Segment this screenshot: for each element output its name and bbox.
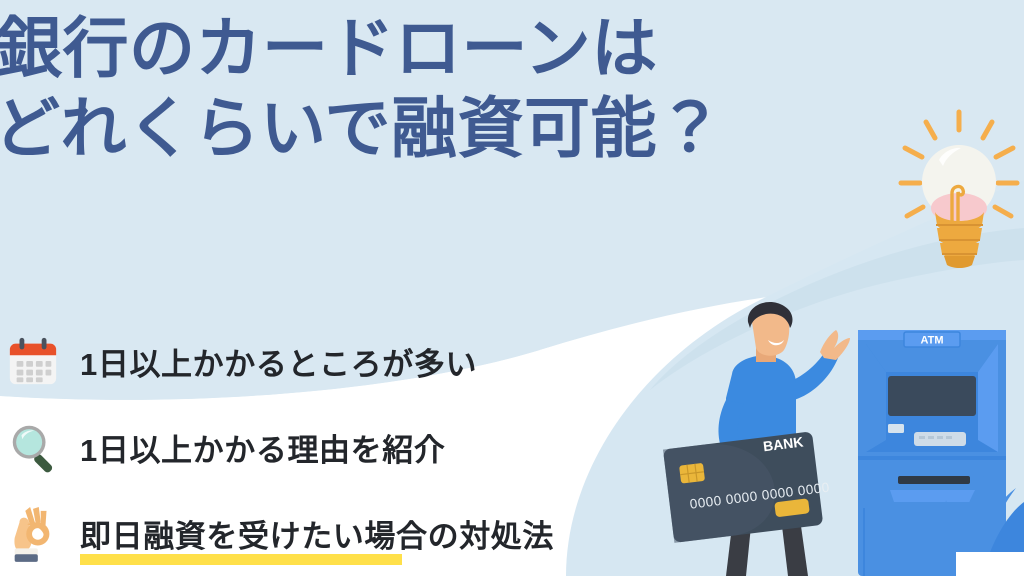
list-item-label: 1日以上かかるところが多い xyxy=(66,339,477,384)
list-item[interactable]: 即日融資を受けたい場合の対処法 xyxy=(0,496,640,570)
list-item-label: 1日以上かかる理由を紹介 xyxy=(66,425,445,470)
page-title-line-2: どれくらいで融資可能？ xyxy=(0,94,900,164)
bank-card: 0000 0000 0000 0000 BANK xyxy=(663,430,834,543)
calendar-icon xyxy=(0,328,66,394)
lightbulb-illustration xyxy=(895,108,1024,268)
list-item[interactable]: 1日以上かかるところが多い xyxy=(0,324,640,398)
atm-label: ATM xyxy=(920,335,943,347)
infographic-canvas: 銀行のカードローンは どれくらいで融資可能？ xyxy=(0,0,1024,576)
page-title-line-1: 銀行のカードローンは xyxy=(0,14,900,84)
ok-hand-icon xyxy=(0,500,66,566)
person-hand-raised xyxy=(820,330,850,360)
list-item[interactable]: 1日以上かかる理由を紹介 xyxy=(0,410,640,484)
plant-pot xyxy=(956,552,1024,576)
bank-illustration: ATM xyxy=(660,300,1024,576)
bullet-list: 1日以上かかるところが多い 1日以上かかる理由を紹介 xyxy=(0,324,640,570)
magnifier-icon xyxy=(0,414,66,480)
page-title: 銀行のカードローンは どれくらいで融資可能？ xyxy=(0,14,900,164)
list-item-label: 即日融資を受けたい場合の対処法 xyxy=(66,511,554,556)
lightbulb-icon xyxy=(895,108,1024,268)
